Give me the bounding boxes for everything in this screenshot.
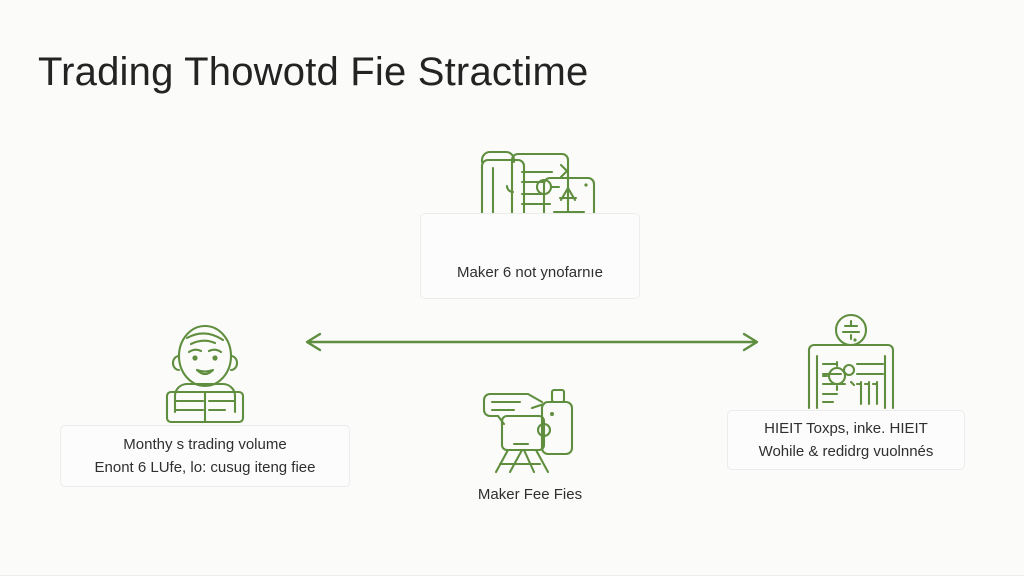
node-card-left[interactable]: Monthy s trading volume Enont 6 LUfe, lo… [60, 425, 350, 487]
machine-icon [470, 372, 590, 476]
user-card-icon [145, 322, 265, 426]
node-caption-center: Maker Fee Fies [418, 486, 642, 503]
node-card-left-label-line1: Monthy s trading volume [123, 433, 286, 456]
diagram-canvas: Trading Thowotd Fie Stractime [0, 0, 1024, 576]
page-title: Trading Thowotd Fie Stractime [38, 50, 588, 95]
double-headed-arrow-connector [298, 330, 766, 354]
node-card-right-label-line2: Wohile & redidrg vuolnnés [759, 440, 934, 463]
node-card-top[interactable]: Maker 6 not ynofarnıe [420, 213, 640, 299]
node-card-left-label-line2: Enont 6 LUfe, lo: cusug iteng fiee [95, 456, 316, 479]
node-card-top-label: Maker 6 not ynofarnıe [457, 261, 603, 284]
node-card-right[interactable]: HIEIT Toxps, inke. HIEIT Wohile & redidr… [727, 410, 965, 470]
node-card-right-label-line1: HIEIT Toxps, inke. HIEIT [764, 417, 928, 440]
clipboard-badge-icon [793, 312, 909, 416]
